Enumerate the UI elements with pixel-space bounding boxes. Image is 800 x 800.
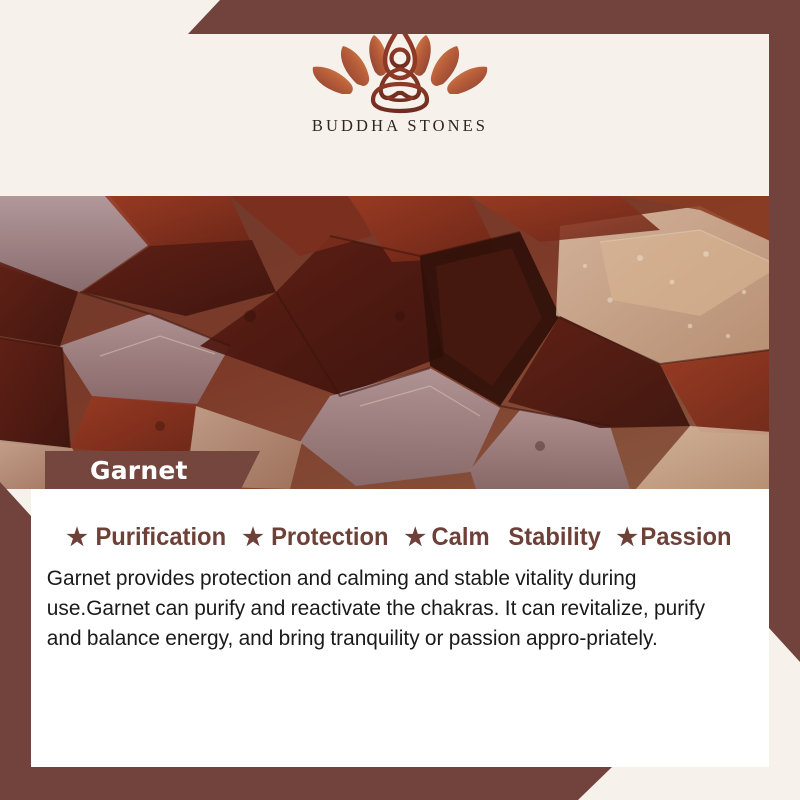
- feature-item-stability: Stability: [506, 523, 603, 552]
- garnet-crystal-cluster-photo: [0, 196, 800, 489]
- feature-item-protection: ★ Protection: [242, 523, 391, 552]
- star-icon: ★: [242, 526, 264, 550]
- feature-label: Stability: [509, 523, 601, 552]
- stone-name: Garnet: [45, 456, 188, 485]
- stone-name-banner: Garnet: [45, 451, 260, 489]
- feature-label: Protection: [271, 523, 388, 552]
- brand-logo: [295, 22, 505, 114]
- frame-border-right: [769, 0, 800, 662]
- feature-label: Calm: [431, 523, 489, 552]
- star-icon: ★: [616, 526, 638, 550]
- stone-description: Garnet provides protection and calming a…: [40, 563, 738, 653]
- frame-border-bottom: [0, 767, 800, 800]
- feature-label: Purification: [95, 523, 226, 552]
- stone-photo-graphic: [0, 196, 800, 489]
- star-icon: ★: [404, 526, 426, 550]
- frame-border-left: [0, 482, 31, 800]
- feature-item-calm: ★ Calm: [404, 523, 491, 552]
- lotus-meditation-logo-icon: [295, 22, 505, 114]
- feature-label: Passion: [640, 523, 731, 552]
- product-info-card: BUDDHA STONES Stone Features & Benefits: [0, 0, 800, 800]
- brand-name: BUDDHA STONES: [312, 116, 488, 136]
- star-icon: ★: [66, 526, 88, 550]
- feature-item-purification: ★ Purification: [66, 523, 229, 552]
- feature-item-passion: ★ Passion: [616, 523, 733, 552]
- feature-list: ★ Purification ★ Protection ★ Calm Stabi…: [40, 523, 760, 552]
- body-section: ★ Purification ★ Protection ★ Calm Stabi…: [31, 489, 769, 767]
